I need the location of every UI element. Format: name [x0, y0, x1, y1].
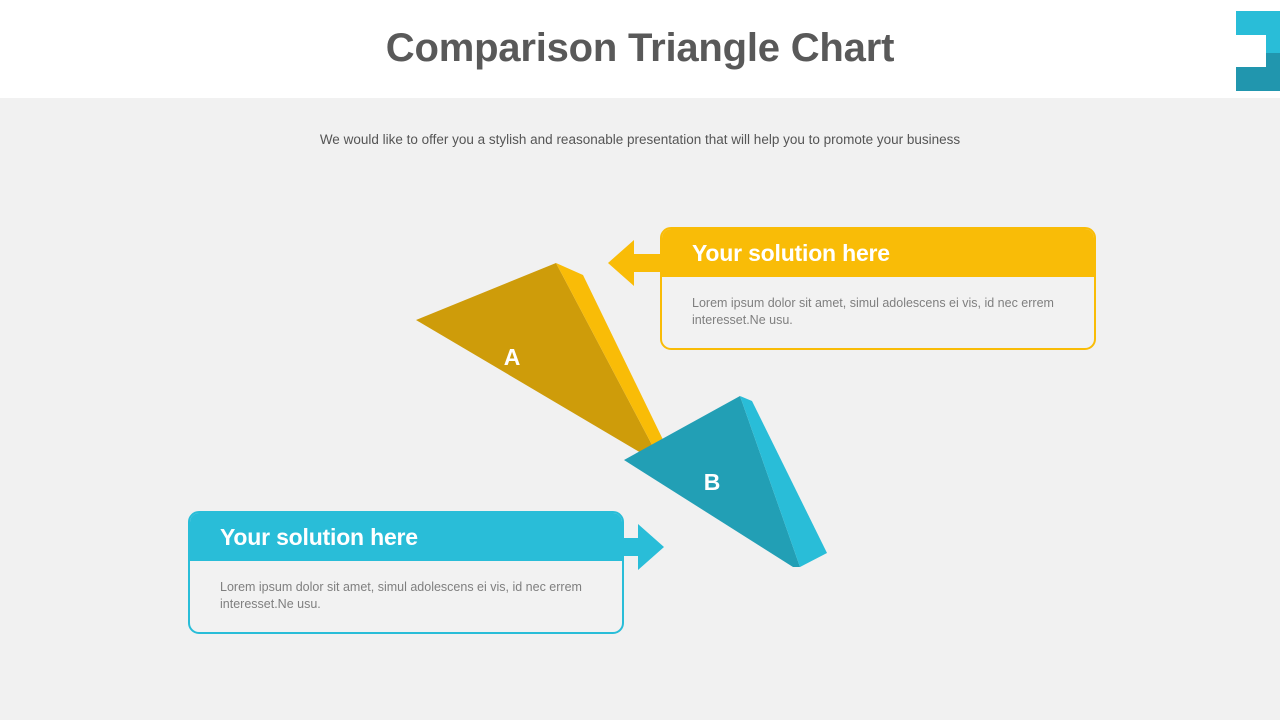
callout-a-title: Your solution here [662, 229, 1094, 277]
slide-canvas: Comparison Triangle Chart We would like … [0, 0, 1280, 720]
triangle-a-label: A [492, 344, 532, 371]
callout-solution-a[interactable]: Your solution here Lorem ipsum dolor sit… [660, 227, 1096, 350]
callout-b-title: Your solution here [190, 513, 622, 561]
callout-solution-b[interactable]: Your solution here Lorem ipsum dolor sit… [188, 511, 624, 634]
triangle-b-label: B [692, 469, 732, 496]
callout-b-body: Lorem ipsum dolor sit amet, simul adoles… [190, 561, 622, 613]
callout-a-body: Lorem ipsum dolor sit amet, simul adoles… [662, 277, 1094, 329]
